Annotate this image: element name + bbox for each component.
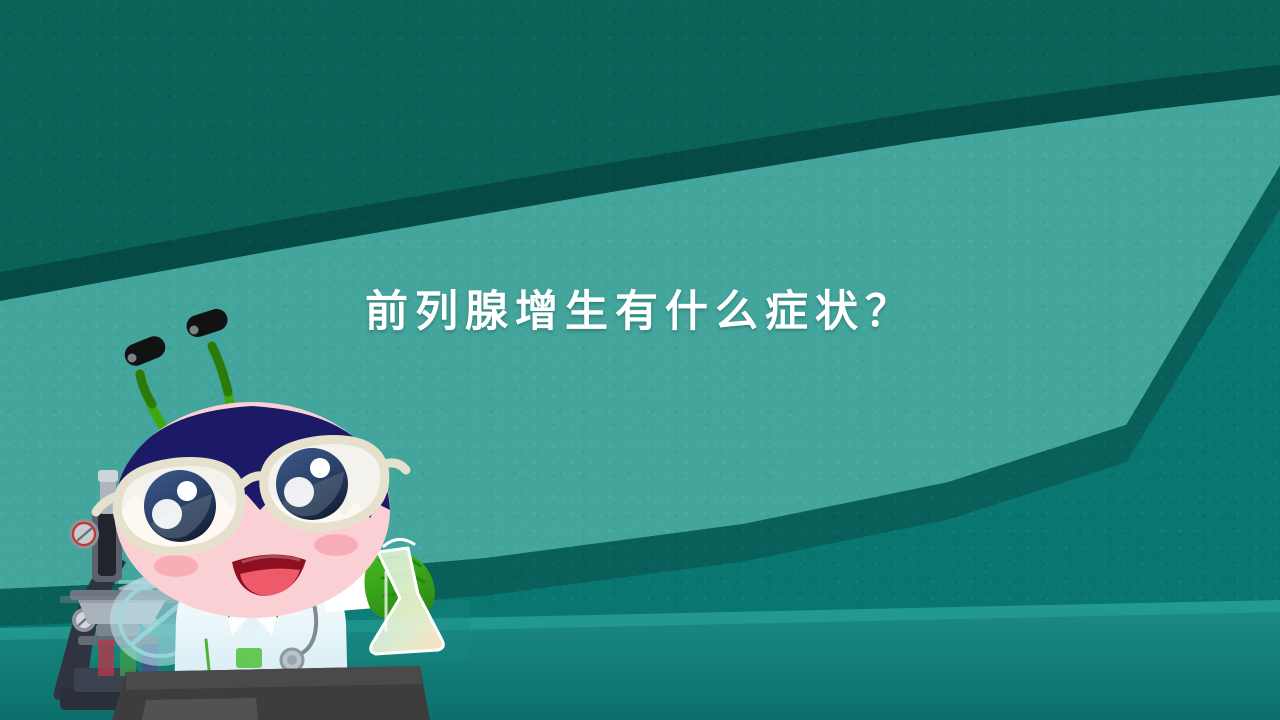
mascot-head xyxy=(96,306,406,618)
right-cheek-blush xyxy=(314,534,358,556)
slide-canvas: 前列腺增生有什么症状？ xyxy=(0,0,1280,720)
left-cheek-blush xyxy=(154,555,198,577)
antenna-left-icon xyxy=(121,333,168,432)
scientist-illustration xyxy=(0,0,1280,720)
page-title: 前列腺增生有什么症状？ xyxy=(0,277,1280,339)
left-eye xyxy=(144,470,216,542)
computer-monitor xyxy=(112,666,430,720)
right-eye xyxy=(276,448,348,520)
